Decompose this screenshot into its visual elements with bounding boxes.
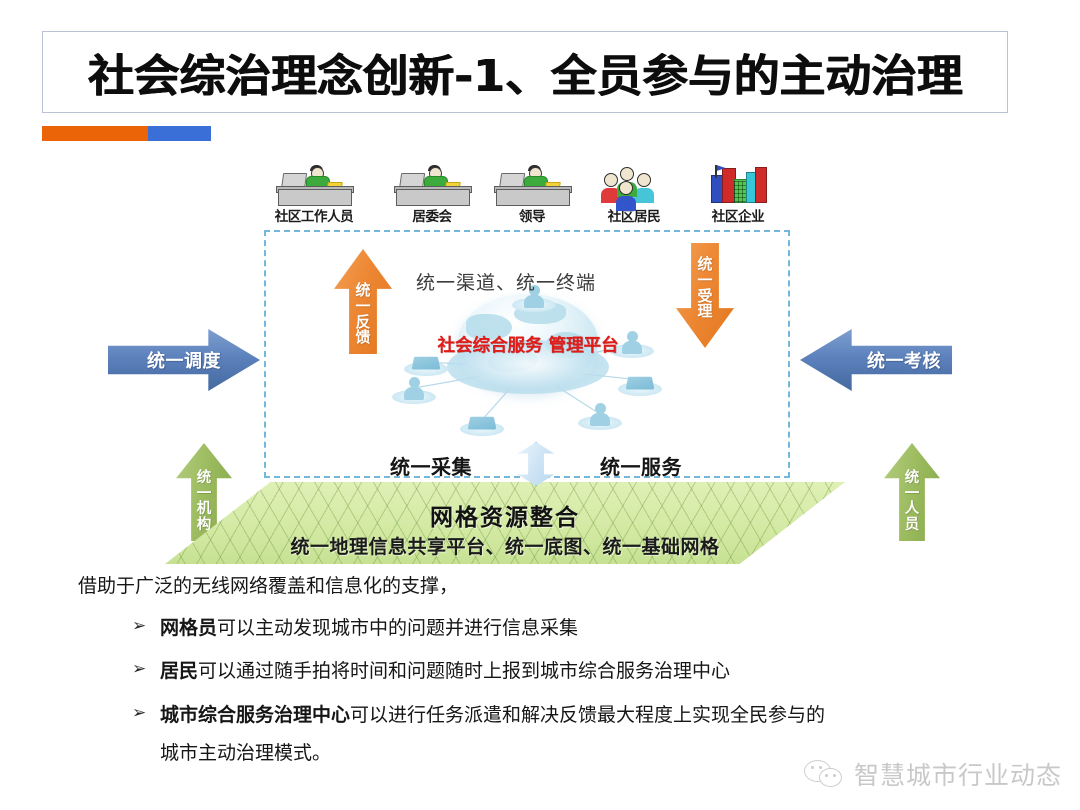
arrow-label-char: 馈 — [334, 330, 392, 346]
role-leader: 领导 — [480, 163, 584, 225]
desk-worker-icon — [262, 163, 366, 205]
buildings-icon — [686, 163, 790, 205]
arrow-label: 统 一 反 馈 — [334, 283, 392, 346]
arrow-label-char: 员 — [884, 518, 940, 534]
wechat-icon — [804, 758, 844, 790]
list-item: ➢ 居民可以通过随手拍将时间和问题随时上报到城市综合服务治理中心 — [132, 656, 978, 687]
platform-label: 社会综合服务 管理平台 — [437, 336, 618, 357]
role-community-enterprise: 社区企业 — [686, 163, 790, 225]
platform-label-line2: 管理平台 — [549, 336, 619, 356]
arrow-label: 统 一 受 理 — [676, 257, 734, 320]
platform-label-line1: 社会综合服务 — [437, 336, 542, 356]
arrow-label: 统一考核 — [800, 347, 980, 373]
arrow-unified-dispatch: 统一调度 — [108, 329, 260, 391]
network-node — [618, 366, 662, 396]
arrow-label-char: 人 — [884, 502, 940, 518]
arrow-label: 统一调度 — [108, 347, 288, 373]
arrow-label-char: 一 — [884, 487, 940, 503]
role-community-worker: 社区工作人员 — [262, 163, 366, 225]
grid-resource-plate: 网格资源整合 统一地理信息共享平台、统一底图、统一基础网格 — [165, 482, 845, 564]
accent-bar — [42, 126, 211, 141]
arrow-label-char: 统 — [884, 471, 940, 487]
list-item-text: 网格员可以主动发现城市中的问题并进行信息采集 — [160, 613, 978, 644]
list-item-bold: 居民 — [160, 660, 198, 682]
body-copy: 借助于广泛的无线网络覆盖和信息化的支撑， ➢ 网格员可以主动发现城市中的问题并进… — [78, 572, 978, 769]
network-node — [392, 374, 436, 404]
bullet-marker-icon: ➢ — [132, 656, 160, 684]
list-item-rest: 可以进行任务派遣和解决反馈最大程度上实现全民参与的 — [350, 704, 825, 726]
list-item-bold: 网格员 — [160, 617, 217, 639]
list-item-rest: 可以主动发现城市中的问题并进行信息采集 — [217, 617, 578, 639]
role-label: 领导 — [480, 205, 584, 225]
arrow-unified-appraisal: 统一考核 — [800, 329, 952, 391]
bullet-marker-icon: ➢ — [132, 700, 160, 728]
people-group-icon — [582, 163, 686, 205]
role-community-residents: 社区居民 — [582, 163, 686, 225]
desk-worker-icon — [480, 163, 584, 205]
accent-bar-blue — [148, 126, 211, 141]
slide-canvas: 社会综治理念创新-1、全员参与的主动治理 社区工作人员 — [0, 0, 1080, 810]
list-item: ➢ 网格员可以主动发现城市中的问题并进行信息采集 — [132, 613, 978, 644]
collect-label: 统一采集 — [390, 451, 472, 480]
central-platform-graphic: 社会综合服务 管理平台 — [392, 288, 664, 448]
arrow-unified-acceptance: 统 一 受 理 — [676, 243, 734, 348]
list-item: ➢ 城市综合服务治理中心可以进行任务派遣和解决反馈最大程度上实现全民参与的 — [132, 700, 978, 731]
list-item-text: 居民可以通过随手拍将时间和问题随时上报到城市综合服务治理中心 — [160, 656, 978, 687]
arrow-label-char: 理 — [676, 304, 734, 320]
role-label: 社区工作人员 — [262, 205, 366, 225]
plate-title: 网格资源整合 — [165, 498, 845, 532]
list-item-text: 城市综合服务治理中心可以进行任务派遣和解决反馈最大程度上实现全民参与的 — [160, 700, 978, 731]
arrow-label: 统 一 人 员 — [884, 471, 940, 534]
collect-service-row: 统一采集 统一服务 — [390, 447, 682, 483]
title-box: 社会综治理念创新-1、全员参与的主动治理 — [42, 31, 1008, 113]
bullet-marker-icon: ➢ — [132, 613, 160, 641]
page-title: 社会综治理念创新-1、全员参与的主动治理 — [88, 40, 963, 104]
role-label: 居委会 — [380, 205, 484, 225]
list-item-rest: 可以通过随手拍将时间和问题随时上报到城市综合服务治理中心 — [198, 660, 730, 682]
lead-paragraph: 借助于广泛的无线网络覆盖和信息化的支撑， — [78, 572, 978, 601]
role-neighborhood-committee: 居委会 — [380, 163, 484, 225]
roles-row: 社区工作人员 居委会 领导 — [262, 163, 792, 227]
network-node — [460, 406, 504, 436]
desk-worker-icon — [380, 163, 484, 205]
channel-terminal-caption: 统一渠道、统一终端 — [416, 268, 596, 295]
service-label: 统一服务 — [600, 451, 682, 480]
accent-bar-orange — [42, 126, 148, 141]
watermark: 智慧城市行业动态 — [804, 756, 1062, 792]
role-label: 社区企业 — [686, 205, 790, 225]
arrow-unified-staff: 统 一 人 员 — [884, 443, 940, 541]
network-node — [578, 400, 622, 430]
double-arrow-vertical-icon — [518, 442, 554, 486]
plate-subtitle: 统一地理信息共享平台、统一底图、统一基础网格 — [165, 532, 845, 559]
list-item-bold: 城市综合服务治理中心 — [160, 704, 350, 726]
arrow-unified-feedback: 统 一 反 馈 — [334, 249, 392, 354]
watermark-text: 智慧城市行业动态 — [854, 756, 1062, 792]
